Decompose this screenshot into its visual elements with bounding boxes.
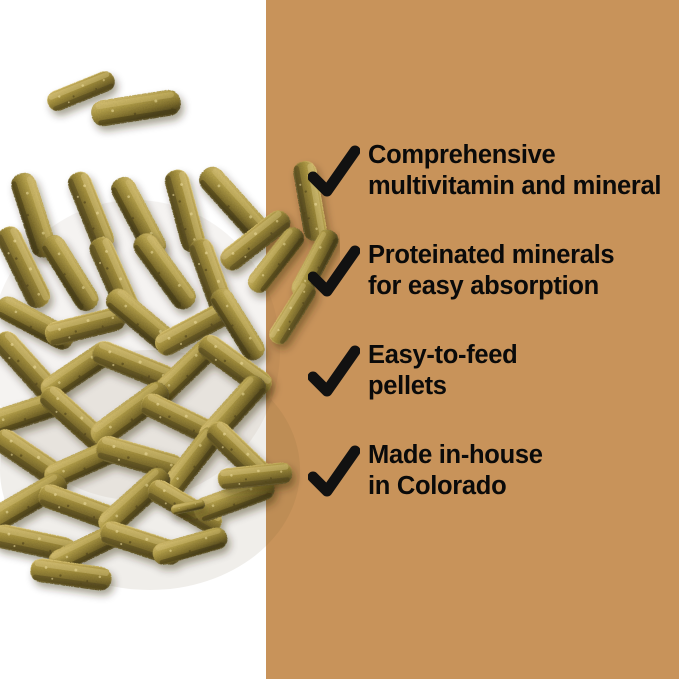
- list-item: Easy-to-feed pellets: [308, 338, 679, 424]
- left-photo-panel: [0, 0, 266, 679]
- list-item-label: Proteinated minerals for easy absorption: [368, 238, 679, 302]
- list-item: Made in-house in Colorado: [308, 438, 679, 524]
- feature-graphic: Comprehensive multivitamin and mineral P…: [0, 0, 679, 679]
- feature-bullet-list: Comprehensive multivitamin and mineral P…: [308, 138, 679, 538]
- list-item: Comprehensive multivitamin and mineral: [308, 138, 679, 224]
- list-item-label: Comprehensive multivitamin and mineral: [368, 138, 679, 202]
- list-item-label: Easy-to-feed pellets: [368, 338, 679, 402]
- checkmark-icon: [308, 444, 360, 502]
- checkmark-icon: [308, 244, 360, 302]
- checkmark-icon: [308, 144, 360, 202]
- checkmark-icon: [308, 344, 360, 402]
- list-item: Proteinated minerals for easy absorption: [308, 238, 679, 324]
- list-item-label: Made in-house in Colorado: [368, 438, 679, 502]
